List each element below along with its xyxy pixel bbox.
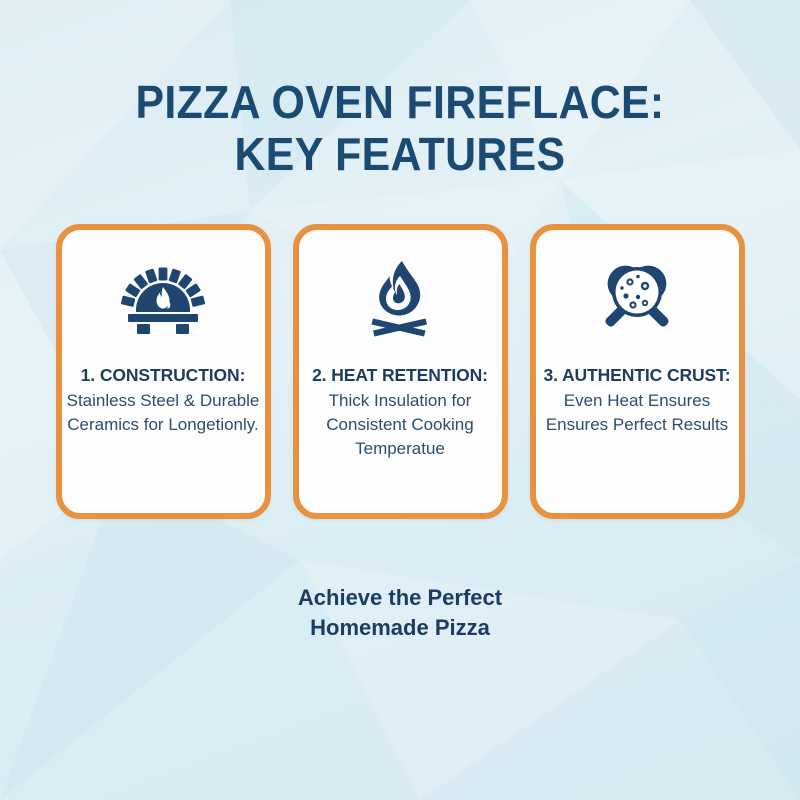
card-body: Stainless Steel & Durable Ceramics for L… [59,389,267,437]
page-title: PIZZA OVEN FIREFLACE: KEY FEATURES [30,76,770,180]
pizza-peels-icon [593,256,681,342]
footer-line-1: Achieve the Perfect [298,583,502,613]
card-body: Thick Insulation for Consistent Cooking … [296,389,504,461]
footer-line-2: Homemade Pizza [298,613,502,643]
campfire-flame-icon [361,256,439,342]
card-heading: 1. CONSTRUCTION: [59,364,267,386]
title-line-2: KEY FEATURES [56,128,744,180]
card-text-construction: 1. CONSTRUCTION: Stainless Steel & Durab… [59,364,267,437]
brick-pizza-oven-icon [120,256,206,342]
footer-tagline: Achieve the Perfect Homemade Pizza [298,583,502,643]
card-heading: 2. HEAT RETENTION: [296,364,504,386]
feature-card-heat-retention[interactable]: 2. HEAT RETENTION: Thick Insulation for … [293,224,508,519]
card-text-heat-retention: 2. HEAT RETENTION: Thick Insulation for … [296,364,504,461]
feature-card-authentic-crust[interactable]: 3. AUTHENTIC CRUST: Even Heat Ensures En… [530,224,745,519]
feature-card-construction[interactable]: 1. CONSTRUCTION: Stainless Steel & Durab… [56,224,271,519]
content-layer: PIZZA OVEN FIREFLACE: KEY FEATURES [0,0,800,800]
card-text-authentic-crust: 3. AUTHENTIC CRUST: Even Heat Ensures En… [533,364,741,437]
feature-cards-row: 1. CONSTRUCTION: Stainless Steel & Durab… [56,224,745,519]
infographic-canvas: PIZZA OVEN FIREFLACE: KEY FEATURES [0,0,800,800]
title-line-1: PIZZA OVEN FIREFLACE: [56,76,744,128]
card-body: Even Heat Ensures Ensures Perfect Result… [533,389,741,437]
card-heading: 3. AUTHENTIC CRUST: [533,364,741,386]
